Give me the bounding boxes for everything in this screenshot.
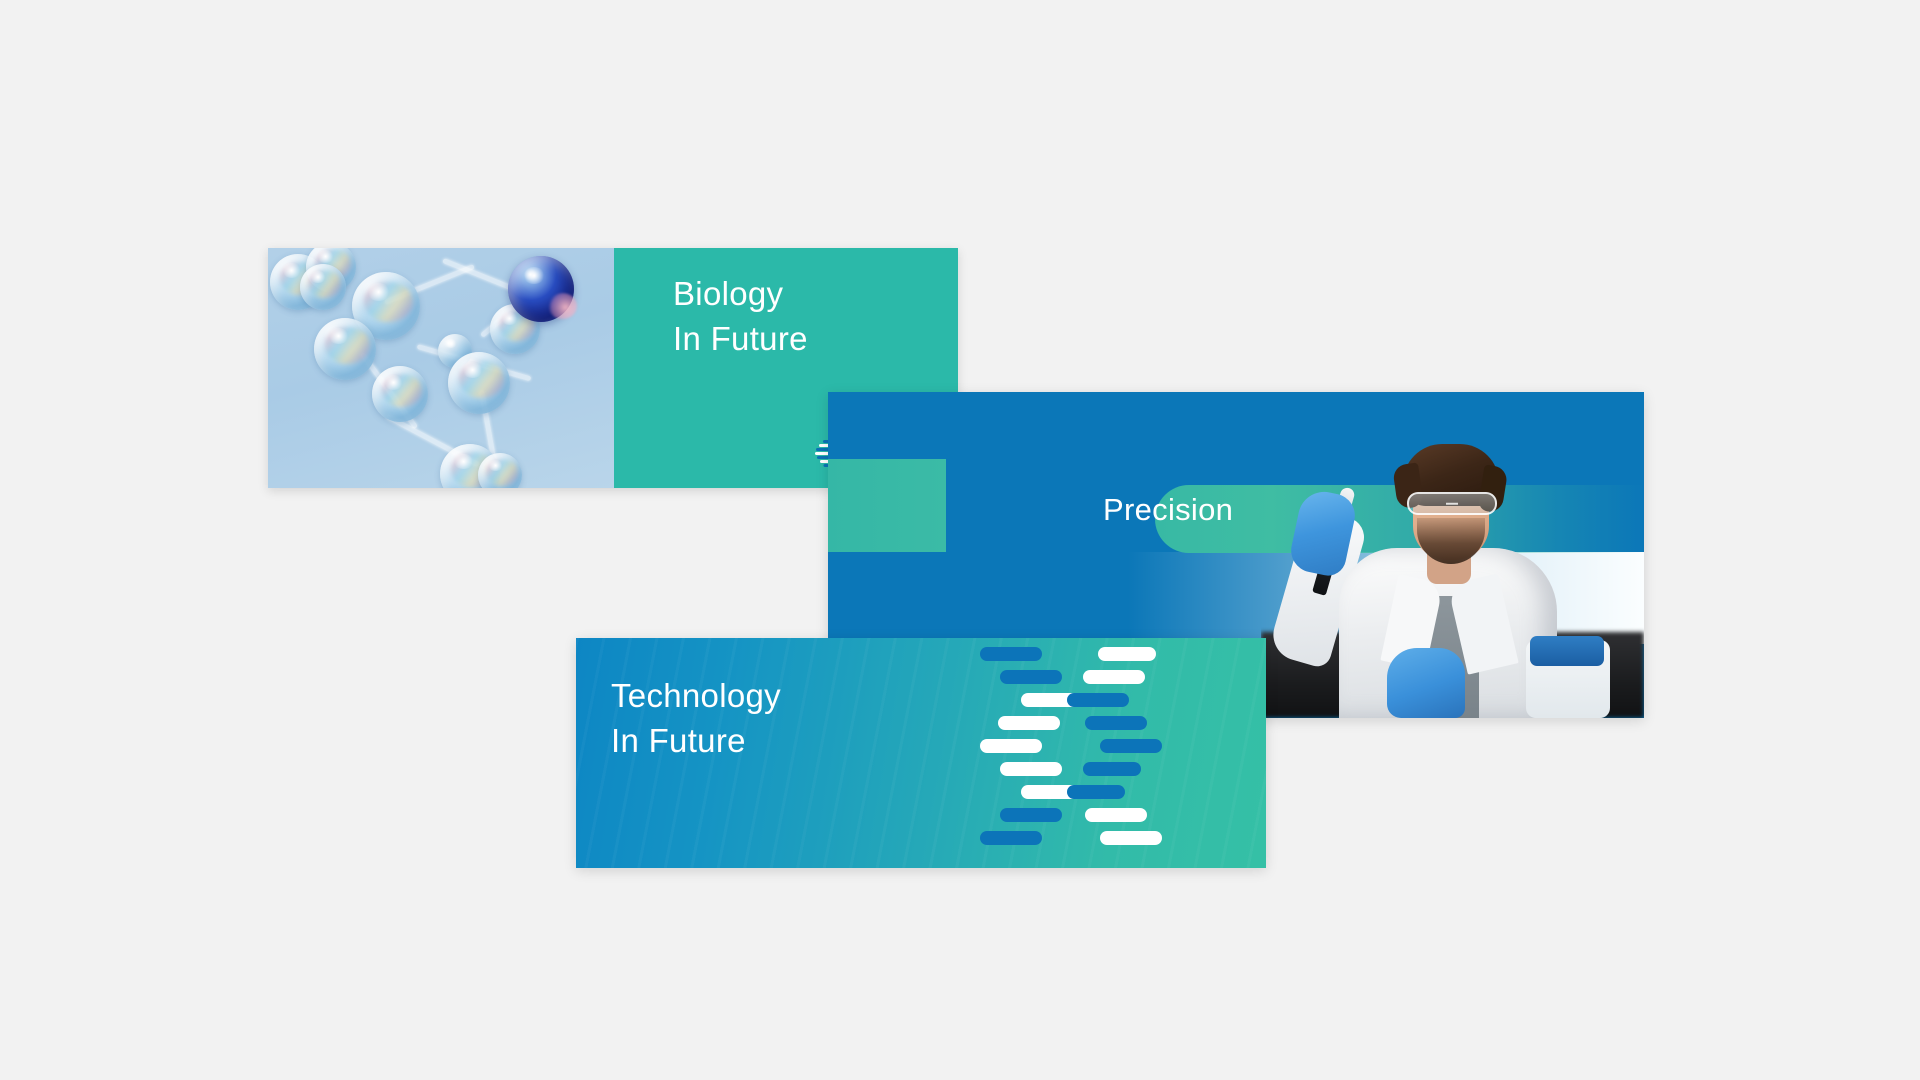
scientist-photo	[1261, 392, 1644, 718]
molecule-sphere	[372, 366, 428, 422]
dna-gel-graphic	[975, 638, 1165, 868]
biology-card-title: Biology In Future	[673, 272, 808, 361]
gel-band	[980, 647, 1042, 661]
gel-band	[1000, 762, 1062, 776]
gel-band	[1000, 670, 1062, 684]
safety-goggles-icon	[1407, 492, 1497, 515]
gel-band	[1067, 693, 1129, 707]
canvas: Biology In Future BIOASSIST 佰 奥 斯 特	[0, 0, 1920, 1080]
gel-band	[998, 716, 1060, 730]
molecule-sphere	[448, 352, 510, 414]
gel-band	[1085, 716, 1147, 730]
molecule-sphere	[314, 318, 376, 380]
reagent-bottle-cap	[1530, 636, 1604, 666]
gel-band	[1083, 762, 1141, 776]
gel-band	[1085, 808, 1147, 822]
gel-band	[1100, 739, 1162, 753]
technology-card-title: Technology In Future	[611, 674, 781, 763]
gel-band	[980, 831, 1042, 845]
gel-band	[1067, 785, 1125, 799]
gel-band	[1000, 808, 1062, 822]
precision-card-title: Precision	[1103, 492, 1233, 528]
molecule-photo	[268, 248, 614, 488]
molecule-sphere	[478, 453, 522, 488]
gel-band	[980, 739, 1042, 753]
molecule-sphere	[300, 264, 346, 310]
gel-band	[1098, 647, 1156, 661]
technology-in-future-banner[interactable]: Technology In Future	[576, 638, 1266, 868]
glove-right	[1387, 648, 1465, 718]
gel-band	[1100, 831, 1162, 845]
gel-band	[1083, 670, 1145, 684]
molecule-sphere	[508, 256, 574, 322]
teal-accent-band-top	[828, 459, 946, 552]
